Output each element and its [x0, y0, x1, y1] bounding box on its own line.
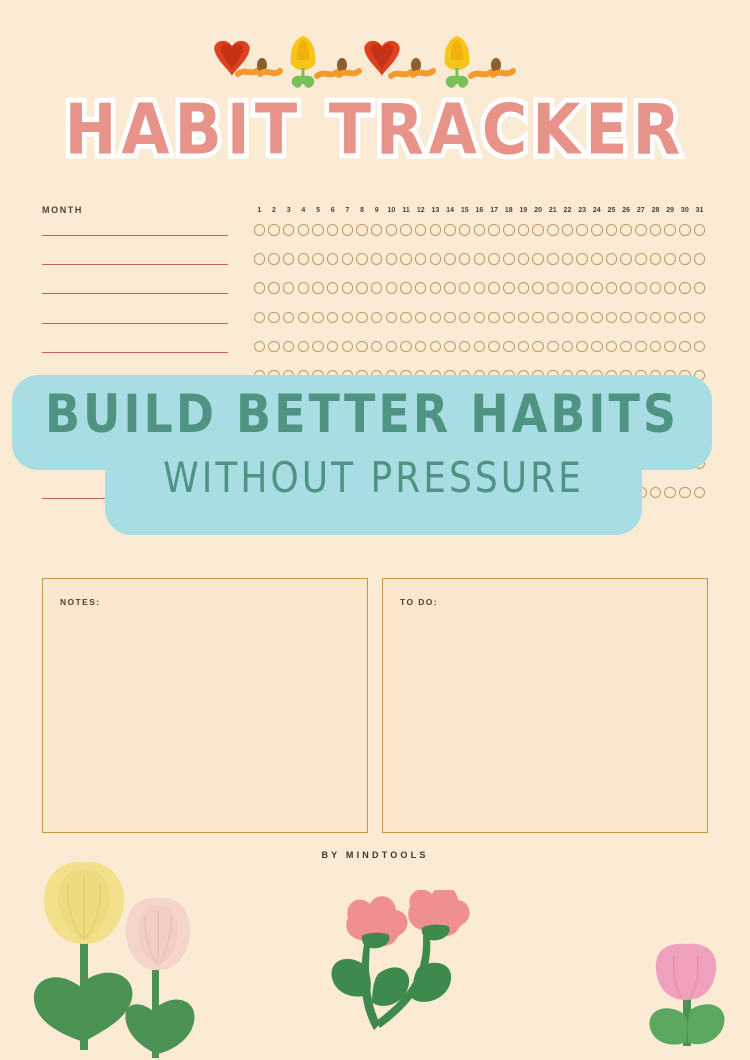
habit-name-line[interactable] — [42, 381, 228, 382]
habit-circle-cell[interactable] — [487, 341, 502, 353]
habit-circle-cell[interactable] — [252, 370, 267, 382]
habit-circle-cell[interactable] — [281, 428, 296, 440]
habit-circle[interactable] — [635, 370, 647, 382]
habit-circle-cell[interactable] — [604, 253, 619, 265]
habit-circle[interactable] — [444, 399, 456, 411]
habit-circle-cell[interactable] — [369, 370, 384, 382]
habit-circle[interactable] — [620, 487, 632, 499]
habit-circle-cell[interactable] — [531, 312, 546, 324]
habit-circle-cell[interactable] — [560, 370, 575, 382]
habit-circle[interactable] — [444, 224, 456, 236]
habit-circle[interactable] — [298, 487, 310, 499]
habit-circle-cell[interactable] — [589, 428, 604, 440]
habit-circle[interactable] — [650, 487, 662, 499]
habit-circle-cell[interactable] — [340, 224, 355, 236]
habit-circle[interactable] — [400, 341, 412, 353]
habit-name-line[interactable] — [42, 352, 228, 353]
habit-circle-cell[interactable] — [560, 399, 575, 411]
habit-circle[interactable] — [342, 487, 354, 499]
habit-name-line[interactable] — [42, 498, 228, 499]
habit-circle-cell[interactable] — [457, 224, 472, 236]
habit-circle[interactable] — [415, 428, 427, 440]
habit-circle[interactable] — [591, 458, 603, 470]
habit-circle-cell[interactable] — [619, 370, 634, 382]
habit-circle[interactable] — [327, 428, 339, 440]
habit-circle[interactable] — [371, 399, 383, 411]
habit-circle-cell[interactable] — [457, 399, 472, 411]
habit-circle-cell[interactable] — [663, 282, 678, 294]
habit-circle[interactable] — [386, 458, 398, 470]
habit-circle[interactable] — [591, 370, 603, 382]
habit-circle-cell[interactable] — [692, 312, 707, 324]
habit-circle[interactable] — [283, 399, 295, 411]
habit-circle-cell[interactable] — [355, 428, 370, 440]
habit-circle[interactable] — [342, 399, 354, 411]
habit-circle-cell[interactable] — [501, 312, 516, 324]
habit-circle-cell[interactable] — [457, 312, 472, 324]
habit-circle[interactable] — [606, 253, 618, 265]
habit-circle-cell[interactable] — [677, 253, 692, 265]
habit-circle-cell[interactable] — [619, 458, 634, 470]
habit-circle-cell[interactable] — [369, 341, 384, 353]
habit-circle[interactable] — [327, 370, 339, 382]
habit-circle[interactable] — [254, 282, 266, 294]
habit-circle-cell[interactable] — [355, 341, 370, 353]
habit-circle-cell[interactable] — [531, 428, 546, 440]
habit-circle[interactable] — [444, 370, 456, 382]
habit-circle[interactable] — [459, 341, 471, 353]
habit-circle[interactable] — [488, 399, 500, 411]
habit-circle[interactable] — [591, 312, 603, 324]
habit-circle[interactable] — [386, 428, 398, 440]
habit-circle[interactable] — [650, 224, 662, 236]
habit-circle[interactable] — [327, 312, 339, 324]
habit-circle[interactable] — [664, 282, 676, 294]
habit-circle-cell[interactable] — [589, 282, 604, 294]
habit-circle-cell[interactable] — [428, 341, 443, 353]
habit-circle-cell[interactable] — [267, 312, 282, 324]
habit-circle[interactable] — [620, 224, 632, 236]
habit-circle-cell[interactable] — [443, 399, 458, 411]
habit-circle[interactable] — [254, 399, 266, 411]
habit-circle-cell[interactable] — [325, 370, 340, 382]
habit-circle-cell[interactable] — [325, 253, 340, 265]
habit-circle-cell[interactable] — [501, 428, 516, 440]
habit-circle[interactable] — [576, 399, 588, 411]
habit-circle[interactable] — [459, 224, 471, 236]
habit-circle[interactable] — [312, 487, 324, 499]
habit-circle-cell[interactable] — [340, 487, 355, 499]
habit-circle[interactable] — [386, 312, 398, 324]
habit-circle[interactable] — [400, 370, 412, 382]
habit-circle[interactable] — [591, 487, 603, 499]
habit-circle-cell[interactable] — [296, 224, 311, 236]
habit-circle[interactable] — [664, 341, 676, 353]
habit-circle-cell[interactable] — [296, 253, 311, 265]
habit-circle-cell[interactable] — [575, 312, 590, 324]
habit-circle[interactable] — [488, 370, 500, 382]
habit-circle-cell[interactable] — [648, 487, 663, 499]
habit-circle-cell[interactable] — [472, 253, 487, 265]
habit-circle-cell[interactable] — [457, 487, 472, 499]
habit-circle[interactable] — [415, 370, 427, 382]
habit-circle[interactable] — [518, 428, 530, 440]
habit-circle-cell[interactable] — [296, 458, 311, 470]
habit-circle[interactable] — [459, 282, 471, 294]
habit-circle[interactable] — [430, 253, 442, 265]
habit-circle[interactable] — [679, 253, 691, 265]
habit-circle[interactable] — [576, 487, 588, 499]
habit-circle-cell[interactable] — [296, 399, 311, 411]
habit-circle[interactable] — [664, 224, 676, 236]
habit-circle-cell[interactable] — [267, 428, 282, 440]
habit-circle-cell[interactable] — [487, 370, 502, 382]
habit-circle-cell[interactable] — [619, 224, 634, 236]
habit-circle[interactable] — [386, 487, 398, 499]
habit-circle-cell[interactable] — [531, 399, 546, 411]
habit-circle-cell[interactable] — [648, 312, 663, 324]
habit-circle[interactable] — [327, 282, 339, 294]
habit-circle[interactable] — [459, 487, 471, 499]
habit-circle[interactable] — [356, 224, 368, 236]
habit-name-line[interactable] — [42, 293, 228, 294]
habit-circle[interactable] — [371, 312, 383, 324]
habit-circle-cell[interactable] — [531, 370, 546, 382]
habit-circle-cell[interactable] — [633, 487, 648, 499]
habit-circle-cell[interactable] — [677, 282, 692, 294]
habit-circle[interactable] — [679, 487, 691, 499]
habit-circle-cell[interactable] — [487, 253, 502, 265]
habit-circle-cell[interactable] — [428, 458, 443, 470]
habit-circle-cell[interactable] — [384, 253, 399, 265]
habit-circle[interactable] — [430, 458, 442, 470]
habit-circle-cell[interactable] — [355, 312, 370, 324]
habit-circle-cell[interactable] — [604, 282, 619, 294]
habit-circle[interactable] — [635, 428, 647, 440]
habit-circle[interactable] — [400, 487, 412, 499]
habit-name-line[interactable] — [42, 264, 228, 265]
habit-circle[interactable] — [268, 341, 280, 353]
habit-circle[interactable] — [518, 312, 530, 324]
habit-circle-cell[interactable] — [575, 282, 590, 294]
habit-circle-cell[interactable] — [252, 282, 267, 294]
habit-circle[interactable] — [371, 458, 383, 470]
habit-circle-cell[interactable] — [472, 428, 487, 440]
habit-circle[interactable] — [488, 312, 500, 324]
habit-circle-cell[interactable] — [677, 428, 692, 440]
habit-circle-cell[interactable] — [428, 399, 443, 411]
habit-circle-cell[interactable] — [487, 428, 502, 440]
habit-circle-cell[interactable] — [648, 458, 663, 470]
habit-circle-cell[interactable] — [369, 312, 384, 324]
habit-circle-cell[interactable] — [281, 312, 296, 324]
habit-circle[interactable] — [488, 428, 500, 440]
habit-circle-cell[interactable] — [252, 458, 267, 470]
habit-circle[interactable] — [635, 282, 647, 294]
habit-circle-cell[interactable] — [589, 458, 604, 470]
habit-circle[interactable] — [694, 341, 706, 353]
habit-circle[interactable] — [606, 487, 618, 499]
habit-circle[interactable] — [327, 341, 339, 353]
habit-circle-cell[interactable] — [384, 399, 399, 411]
habit-circle[interactable] — [400, 458, 412, 470]
habit-circle-cell[interactable] — [516, 487, 531, 499]
habit-circle[interactable] — [576, 282, 588, 294]
habit-circle-cell[interactable] — [472, 312, 487, 324]
habit-circle-cell[interactable] — [281, 253, 296, 265]
habit-circle[interactable] — [547, 487, 559, 499]
habit-circle[interactable] — [694, 458, 706, 470]
habit-circle-cell[interactable] — [325, 312, 340, 324]
habit-circle-cell[interactable] — [545, 282, 560, 294]
habit-circle-cell[interactable] — [340, 428, 355, 440]
habit-circle-cell[interactable] — [355, 399, 370, 411]
habit-circle-cell[interactable] — [604, 399, 619, 411]
habit-circle[interactable] — [620, 428, 632, 440]
habit-circle[interactable] — [254, 224, 266, 236]
habit-circle-cell[interactable] — [281, 399, 296, 411]
habit-circle-cell[interactable] — [413, 370, 428, 382]
habit-circle-cell[interactable] — [472, 399, 487, 411]
habit-circle[interactable] — [400, 399, 412, 411]
habit-circle[interactable] — [532, 312, 544, 324]
habit-circle[interactable] — [694, 224, 706, 236]
habit-circle-cell[interactable] — [340, 341, 355, 353]
habit-circle-cell[interactable] — [560, 428, 575, 440]
habit-circle[interactable] — [606, 458, 618, 470]
habit-circle-cell[interactable] — [589, 253, 604, 265]
habit-circle-cell[interactable] — [531, 224, 546, 236]
habit-circle[interactable] — [371, 370, 383, 382]
habit-circle-cell[interactable] — [560, 458, 575, 470]
habit-circle-cell[interactable] — [633, 399, 648, 411]
habit-circle[interactable] — [488, 458, 500, 470]
habit-circle[interactable] — [532, 253, 544, 265]
habit-circle-cell[interactable] — [369, 487, 384, 499]
habit-circle[interactable] — [386, 370, 398, 382]
habit-circle-cell[interactable] — [428, 253, 443, 265]
habit-circle-cell[interactable] — [296, 282, 311, 294]
habit-circle-cell[interactable] — [311, 399, 326, 411]
habit-circle-cell[interactable] — [369, 282, 384, 294]
habit-circle[interactable] — [576, 253, 588, 265]
habit-circle-cell[interactable] — [340, 399, 355, 411]
habit-circle[interactable] — [694, 428, 706, 440]
habit-circle[interactable] — [532, 370, 544, 382]
habit-circle[interactable] — [488, 487, 500, 499]
habit-circle[interactable] — [606, 428, 618, 440]
habit-circle-cell[interactable] — [281, 282, 296, 294]
habit-circle-cell[interactable] — [443, 282, 458, 294]
habit-circle-cell[interactable] — [545, 253, 560, 265]
habit-circle[interactable] — [620, 458, 632, 470]
habit-circle[interactable] — [562, 487, 574, 499]
habit-circle[interactable] — [342, 458, 354, 470]
habit-circle[interactable] — [283, 253, 295, 265]
habit-circle-cell[interactable] — [443, 341, 458, 353]
habit-circle[interactable] — [268, 370, 280, 382]
habit-circle[interactable] — [474, 399, 486, 411]
habit-circle[interactable] — [254, 458, 266, 470]
habit-circle-cell[interactable] — [545, 370, 560, 382]
habit-circle[interactable] — [606, 312, 618, 324]
habit-circle-cell[interactable] — [545, 341, 560, 353]
habit-circle[interactable] — [591, 282, 603, 294]
habit-circle[interactable] — [312, 282, 324, 294]
habit-circle-cell[interactable] — [619, 487, 634, 499]
habit-circle-cell[interactable] — [252, 399, 267, 411]
habit-circle[interactable] — [254, 312, 266, 324]
habit-circle[interactable] — [283, 341, 295, 353]
habit-circle[interactable] — [650, 312, 662, 324]
habit-circle[interactable] — [664, 253, 676, 265]
habit-circle[interactable] — [312, 341, 324, 353]
habit-circle-cell[interactable] — [663, 487, 678, 499]
habit-circle-cell[interactable] — [619, 399, 634, 411]
habit-circle-cell[interactable] — [399, 224, 414, 236]
habit-circle[interactable] — [298, 458, 310, 470]
habit-circle-cell[interactable] — [340, 312, 355, 324]
habit-circle-cell[interactable] — [604, 428, 619, 440]
habit-circle[interactable] — [518, 370, 530, 382]
habit-circle-cell[interactable] — [340, 253, 355, 265]
habit-circle-cell[interactable] — [516, 224, 531, 236]
habit-circle[interactable] — [518, 487, 530, 499]
habit-circle[interactable] — [371, 428, 383, 440]
habit-circle[interactable] — [312, 253, 324, 265]
habit-circle-cell[interactable] — [516, 428, 531, 440]
habit-circle[interactable] — [635, 253, 647, 265]
habit-circle[interactable] — [620, 253, 632, 265]
habit-circle-cell[interactable] — [340, 282, 355, 294]
habit-circle-cell[interactable] — [545, 312, 560, 324]
habit-circle-cell[interactable] — [677, 312, 692, 324]
habit-circle-cell[interactable] — [384, 458, 399, 470]
habit-circle[interactable] — [679, 224, 691, 236]
habit-circle-cell[interactable] — [648, 253, 663, 265]
habit-circle[interactable] — [518, 224, 530, 236]
habit-circle[interactable] — [664, 487, 676, 499]
habit-circle-cell[interactable] — [281, 370, 296, 382]
habit-circle-cell[interactable] — [531, 487, 546, 499]
habit-circle[interactable] — [254, 341, 266, 353]
habit-circle[interactable] — [430, 341, 442, 353]
habit-circle[interactable] — [576, 428, 588, 440]
habit-circle[interactable] — [298, 282, 310, 294]
habit-circle-cell[interactable] — [648, 399, 663, 411]
habit-circle-cell[interactable] — [663, 370, 678, 382]
habit-circle-cell[interactable] — [384, 341, 399, 353]
habit-circle[interactable] — [620, 282, 632, 294]
habit-circle[interactable] — [547, 282, 559, 294]
habit-circle[interactable] — [386, 282, 398, 294]
habit-circle[interactable] — [327, 224, 339, 236]
habit-circle[interactable] — [488, 341, 500, 353]
habit-circle-cell[interactable] — [325, 458, 340, 470]
habit-circle-cell[interactable] — [619, 253, 634, 265]
habit-circle[interactable] — [356, 253, 368, 265]
habit-circle-cell[interactable] — [663, 399, 678, 411]
habit-circle-cell[interactable] — [457, 458, 472, 470]
habit-name-line[interactable] — [42, 235, 228, 236]
habit-circle[interactable] — [518, 458, 530, 470]
habit-circle[interactable] — [679, 458, 691, 470]
habit-circle[interactable] — [444, 253, 456, 265]
habit-circle-cell[interactable] — [604, 458, 619, 470]
habit-circle[interactable] — [459, 312, 471, 324]
habit-circle[interactable] — [620, 341, 632, 353]
habit-circle-cell[interactable] — [311, 428, 326, 440]
habit-circle-cell[interactable] — [399, 282, 414, 294]
habit-circle[interactable] — [532, 428, 544, 440]
habit-circle[interactable] — [547, 428, 559, 440]
habit-circle-cell[interactable] — [413, 341, 428, 353]
habit-circle[interactable] — [694, 399, 706, 411]
habit-circle[interactable] — [415, 341, 427, 353]
habit-circle[interactable] — [400, 224, 412, 236]
habit-circle[interactable] — [518, 282, 530, 294]
habit-circle-cell[interactable] — [384, 312, 399, 324]
habit-circle[interactable] — [444, 428, 456, 440]
habit-circle[interactable] — [606, 341, 618, 353]
habit-circle-cell[interactable] — [575, 224, 590, 236]
habit-circle[interactable] — [444, 312, 456, 324]
habit-circle-cell[interactable] — [663, 458, 678, 470]
habit-circle[interactable] — [415, 253, 427, 265]
habit-circle-cell[interactable] — [384, 282, 399, 294]
habit-circle[interactable] — [503, 458, 515, 470]
habit-circle[interactable] — [562, 341, 574, 353]
habit-circle-cell[interactable] — [633, 341, 648, 353]
habit-circle-cell[interactable] — [413, 487, 428, 499]
habit-circle[interactable] — [312, 370, 324, 382]
habit-circle-cell[interactable] — [692, 282, 707, 294]
habit-circle[interactable] — [562, 224, 574, 236]
habit-circle-cell[interactable] — [413, 458, 428, 470]
habit-circle[interactable] — [268, 399, 280, 411]
habit-circle[interactable] — [518, 253, 530, 265]
habit-circle[interactable] — [591, 399, 603, 411]
habit-circle[interactable] — [342, 224, 354, 236]
habit-circle[interactable] — [268, 253, 280, 265]
habit-circle-cell[interactable] — [325, 341, 340, 353]
habit-circle-cell[interactable] — [340, 458, 355, 470]
habit-circle-cell[interactable] — [604, 370, 619, 382]
habit-circle[interactable] — [503, 224, 515, 236]
habit-circle[interactable] — [268, 224, 280, 236]
habit-circle-cell[interactable] — [399, 399, 414, 411]
habit-circle-cell[interactable] — [355, 487, 370, 499]
habit-circle[interactable] — [503, 282, 515, 294]
habit-circle[interactable] — [547, 458, 559, 470]
habit-circle[interactable] — [400, 428, 412, 440]
habit-circle-cell[interactable] — [501, 399, 516, 411]
habit-circle[interactable] — [430, 487, 442, 499]
habit-circle-cell[interactable] — [677, 370, 692, 382]
habit-circle-cell[interactable] — [619, 428, 634, 440]
habit-circle[interactable] — [356, 370, 368, 382]
habit-circle-cell[interactable] — [692, 341, 707, 353]
habit-circle[interactable] — [606, 370, 618, 382]
habit-circle-cell[interactable] — [545, 458, 560, 470]
habit-circle[interactable] — [356, 282, 368, 294]
habit-circle-cell[interactable] — [355, 458, 370, 470]
habit-circle-cell[interactable] — [619, 282, 634, 294]
habit-circle-cell[interactable] — [516, 253, 531, 265]
habit-circle[interactable] — [386, 253, 398, 265]
habit-circle-cell[interactable] — [369, 253, 384, 265]
habit-circle[interactable] — [474, 428, 486, 440]
